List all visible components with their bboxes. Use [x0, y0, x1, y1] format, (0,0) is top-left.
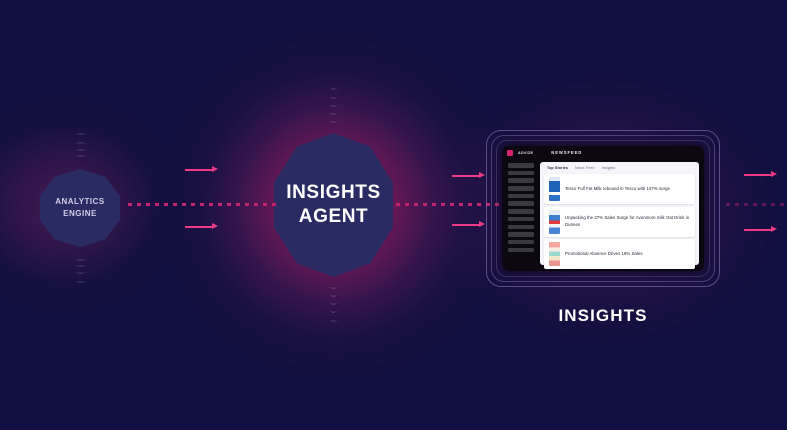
promo-package-thumbnail-icon: [549, 242, 560, 266]
device-card-list: Tesco Full Fat Milk rebound in Tesco wit…: [544, 172, 695, 269]
arrow-right-icon-middle-top: [452, 172, 485, 179]
sidebar-item[interactable]: [508, 194, 534, 199]
insights-agent-node[interactable]: INSIGHTS AGENT: [271, 133, 396, 277]
sidebar-item[interactable]: [508, 232, 534, 237]
oat-drink-carton-thumbnail-icon: [549, 210, 560, 234]
sidebar-item[interactable]: [508, 248, 534, 253]
insights-agent-label-line2: AGENT: [286, 205, 381, 229]
sidebar-item[interactable]: [508, 240, 534, 245]
analytics-engine-node[interactable]: ANALYTICS ENGINE: [38, 169, 122, 247]
device-sidebar[interactable]: [505, 161, 537, 267]
list-item-headline: Unpacking the 27% Sales Surge for Avonmo…: [565, 215, 690, 227]
tab-news-feed[interactable]: News Feed: [575, 166, 595, 170]
sidebar-item[interactable]: [508, 209, 534, 214]
app-logo-text: ADVIZE: [518, 151, 533, 155]
list-item-headline: Promotional Absence Drives 18% Sales: [565, 251, 643, 257]
dotted-flow-line-middle: [396, 203, 506, 206]
app-logo-icon: [507, 150, 513, 156]
list-item-headline: Tesco Full Fat Milk rebound in Tesco wit…: [565, 186, 670, 192]
sidebar-item[interactable]: [508, 163, 534, 168]
list-item[interactable]: Unpacking the 27% Sales Surge for Avonmo…: [544, 207, 695, 237]
list-item[interactable]: Tesco Full Fat Milk rebound in Tesco wit…: [544, 174, 695, 204]
device-screen[interactable]: ADVIZE NEWSFEED Top Stories News Feed In…: [502, 146, 704, 271]
list-item[interactable]: Promotional Absence Drives 18% Sales: [544, 239, 695, 269]
analytics-engine-label: ANALYTICS ENGINE: [55, 196, 105, 219]
milk-carton-thumbnail-icon: [549, 177, 560, 201]
arrow-right-icon-middle-bottom: [452, 221, 485, 228]
insights-agent-label: INSIGHTS AGENT: [286, 181, 381, 229]
sidebar-item[interactable]: [508, 201, 534, 206]
arrow-right-icon-right-bottom: [744, 226, 777, 233]
analytics-engine-label-line1: ANALYTICS: [55, 196, 105, 208]
tab-insights[interactable]: Insights: [602, 166, 616, 170]
sidebar-item[interactable]: [508, 178, 534, 183]
sidebar-item[interactable]: [508, 225, 534, 230]
device-tab-bar: Top Stories News Feed Insights: [544, 165, 695, 172]
analytics-engine-label-line2: ENGINE: [55, 208, 105, 220]
device-topbar: ADVIZE NEWSFEED: [502, 146, 704, 159]
device-content-panel: Top Stories News Feed Insights Tesco Ful…: [540, 162, 699, 265]
insights-agent-label-line1: INSIGHTS: [286, 181, 381, 205]
device-page-title: NEWSFEED: [551, 150, 582, 155]
insights-caption: INSIGHTS: [486, 306, 720, 326]
sidebar-item[interactable]: [508, 171, 534, 176]
dotted-flow-line-right: [726, 203, 787, 206]
arrow-right-icon-right-top: [744, 171, 777, 178]
tab-top-stories[interactable]: Top Stories: [547, 166, 568, 170]
dotted-flow-line-left: [128, 203, 278, 206]
sidebar-item[interactable]: [508, 217, 534, 222]
sidebar-item[interactable]: [508, 186, 534, 191]
arrow-right-icon-left-bottom: [185, 223, 218, 230]
arrow-right-icon-left-top: [185, 166, 218, 173]
diagram-canvas: ANALYTICS ENGINE INSIGHTS AGENT: [0, 0, 787, 430]
